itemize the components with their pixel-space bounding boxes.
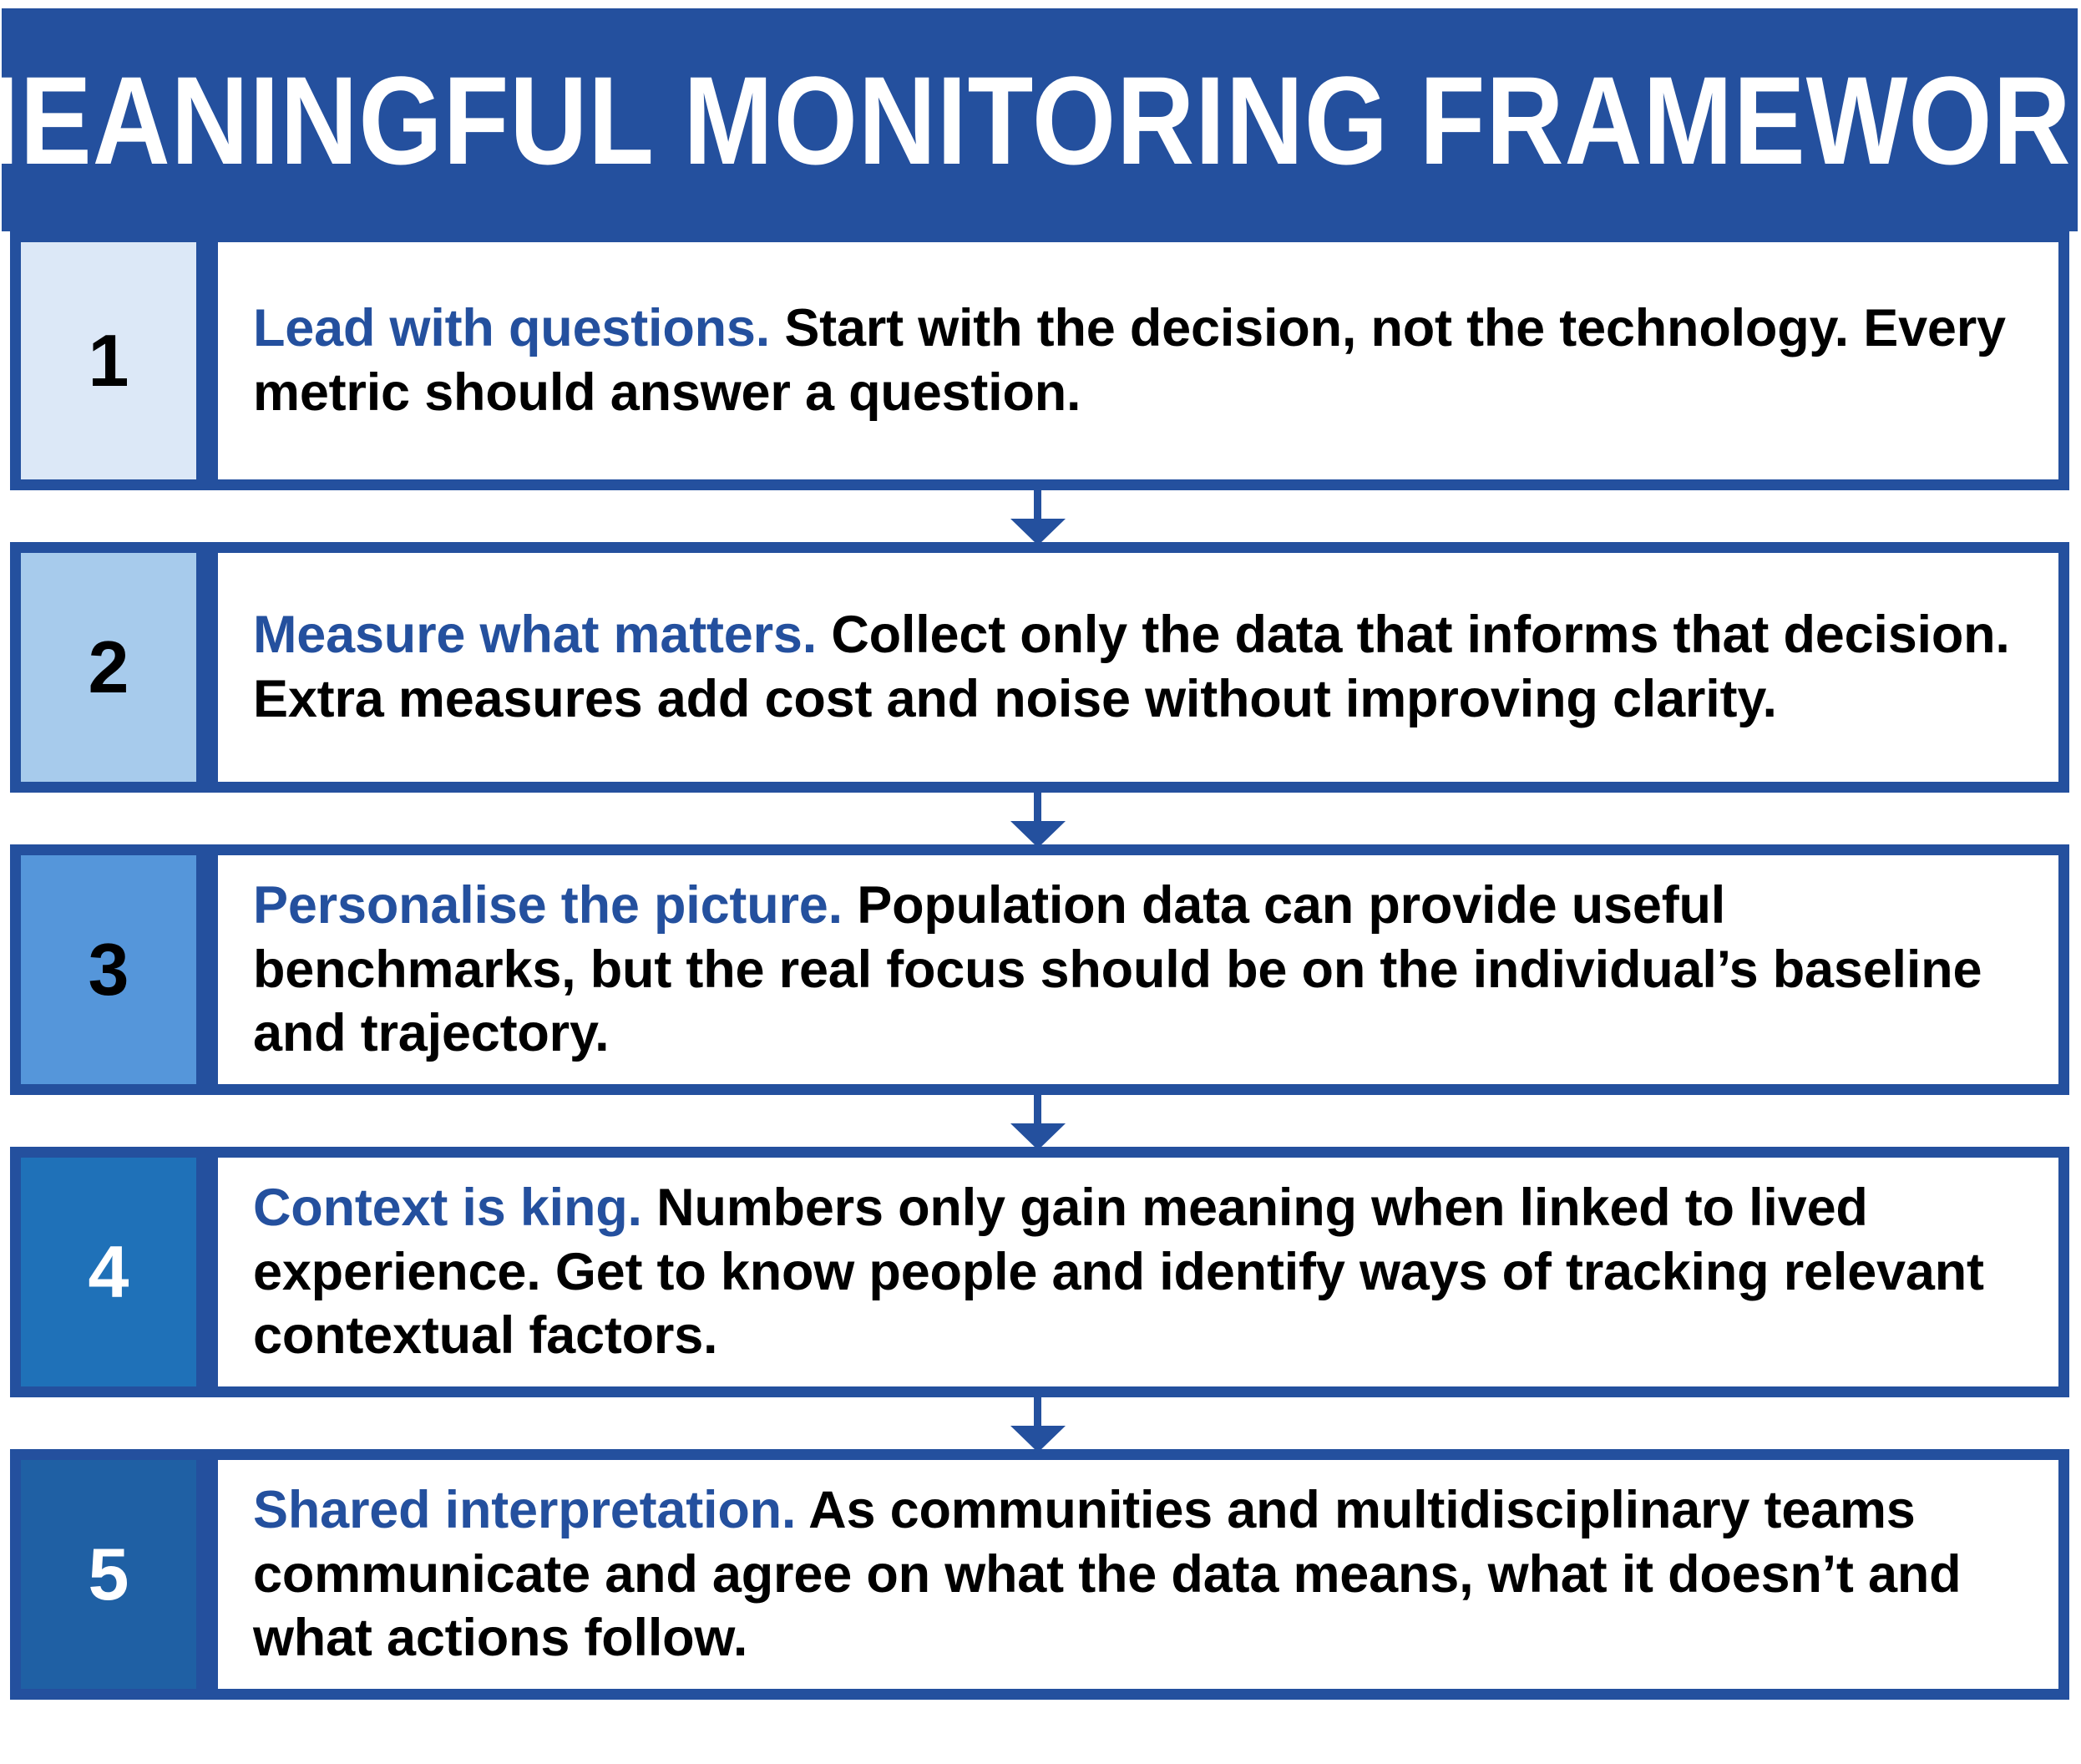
step-text-panel: Measure what matters. Collect only the d…: [207, 542, 2069, 793]
step-row: 4Context is king. Numbers only gain mean…: [0, 1147, 2081, 1397]
step-number-badge: 5: [10, 1449, 207, 1700]
step-number: 3: [89, 933, 129, 1006]
step-number: 4: [89, 1235, 129, 1309]
step-text: Personalise the picture. Population data…: [253, 874, 2025, 1067]
step-text: Shared interpretation. As communities an…: [253, 1478, 2025, 1671]
step-lead-in: Measure what matters.: [253, 606, 817, 664]
step-text-panel: Personalise the picture. Population data…: [207, 844, 2069, 1095]
step-number-badge: 1: [10, 231, 207, 490]
step-text: Context is king. Numbers only gain meani…: [253, 1176, 2025, 1369]
step-row: 1Lead with questions. Start with the dec…: [0, 231, 2081, 490]
arrow-down-icon: [0, 793, 2081, 844]
step-number-badge: 3: [10, 844, 207, 1095]
step-number: 5: [89, 1538, 129, 1611]
step-text-panel: Lead with questions. Start with the deci…: [207, 231, 2069, 490]
step-lead-in: Context is king.: [253, 1179, 642, 1237]
page-title: MEANINGFUL MONITORING FRAMEWORK: [0, 58, 2081, 183]
arrow-down-icon: [0, 490, 2081, 542]
framework-infographic: MEANINGFUL MONITORING FRAMEWORK 1Lead wi…: [0, 0, 2081, 1764]
step-lead-in: Shared interpretation.: [253, 1481, 796, 1539]
step-text-panel: Context is king. Numbers only gain meani…: [207, 1147, 2069, 1397]
step-row: 2Measure what matters. Collect only the …: [0, 542, 2081, 793]
arrow-down-icon: [0, 1397, 2081, 1449]
step-row: 5Shared interpretation. As communities a…: [0, 1449, 2081, 1700]
step-number-badge: 2: [10, 542, 207, 793]
step-row: 3Personalise the picture. Population dat…: [0, 844, 2081, 1095]
step-text: Lead with questions. Start with the deci…: [253, 297, 2025, 425]
steps-list: 1Lead with questions. Start with the dec…: [0, 231, 2081, 1700]
step-number-badge: 4: [10, 1147, 207, 1397]
step-text: Measure what matters. Collect only the d…: [253, 603, 2025, 732]
step-lead-in: Personalise the picture.: [253, 876, 843, 935]
step-lead-in: Lead with questions.: [253, 299, 770, 357]
arrow-down-icon: [0, 1095, 2081, 1147]
header-banner: MEANINGFUL MONITORING FRAMEWORK: [2, 8, 2078, 231]
step-text-panel: Shared interpretation. As communities an…: [207, 1449, 2069, 1700]
step-number: 2: [89, 631, 129, 704]
step-number: 1: [89, 324, 129, 398]
